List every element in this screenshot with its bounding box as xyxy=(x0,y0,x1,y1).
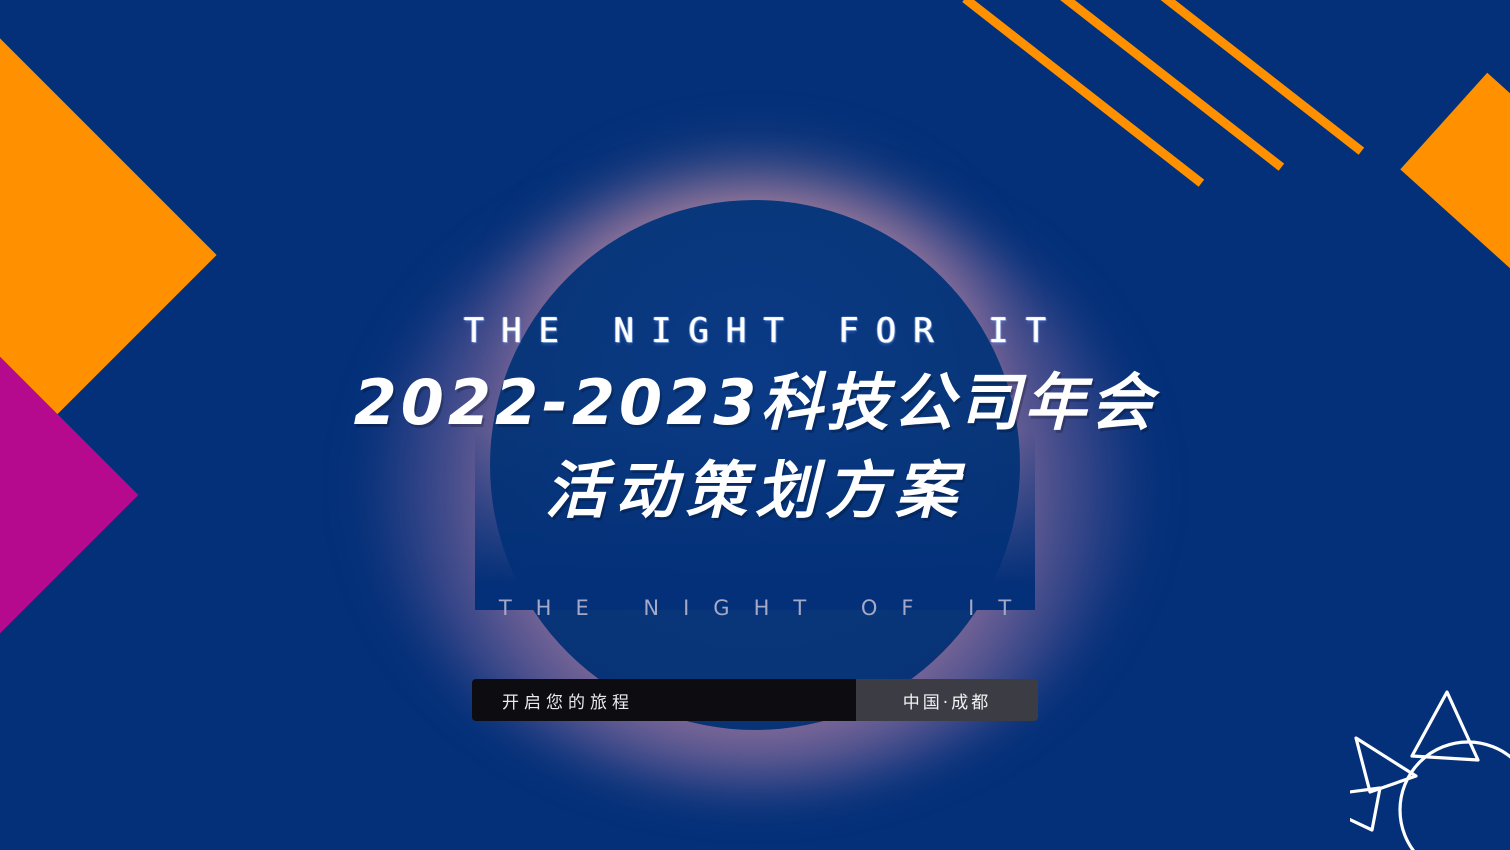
location-label: 中国·成都 xyxy=(903,688,991,713)
location-badge[interactable]: 中国·成都 xyxy=(856,679,1038,721)
poster-subtitle: THE NIGHT OF IT xyxy=(0,598,1510,619)
start-journey-button[interactable]: 开启您的旅程 xyxy=(472,679,856,721)
poster-content: THE NIGHT FOR IT 2022-2023科技公司年会 活动策划方案 … xyxy=(0,0,1510,721)
poster-cta-group: 开启您的旅程 中国·成都 xyxy=(0,679,1510,721)
poster-canvas: THE NIGHT FOR IT 2022-2023科技公司年会 活动策划方案 … xyxy=(0,0,1510,850)
poster-title-line-1: 2022-2023科技公司年会 xyxy=(0,372,1510,434)
poster-eyebrow: THE NIGHT FOR IT xyxy=(0,314,1510,348)
poster-title-line-2: 活动策划方案 xyxy=(0,460,1510,522)
start-journey-label: 开启您的旅程 xyxy=(502,688,634,713)
